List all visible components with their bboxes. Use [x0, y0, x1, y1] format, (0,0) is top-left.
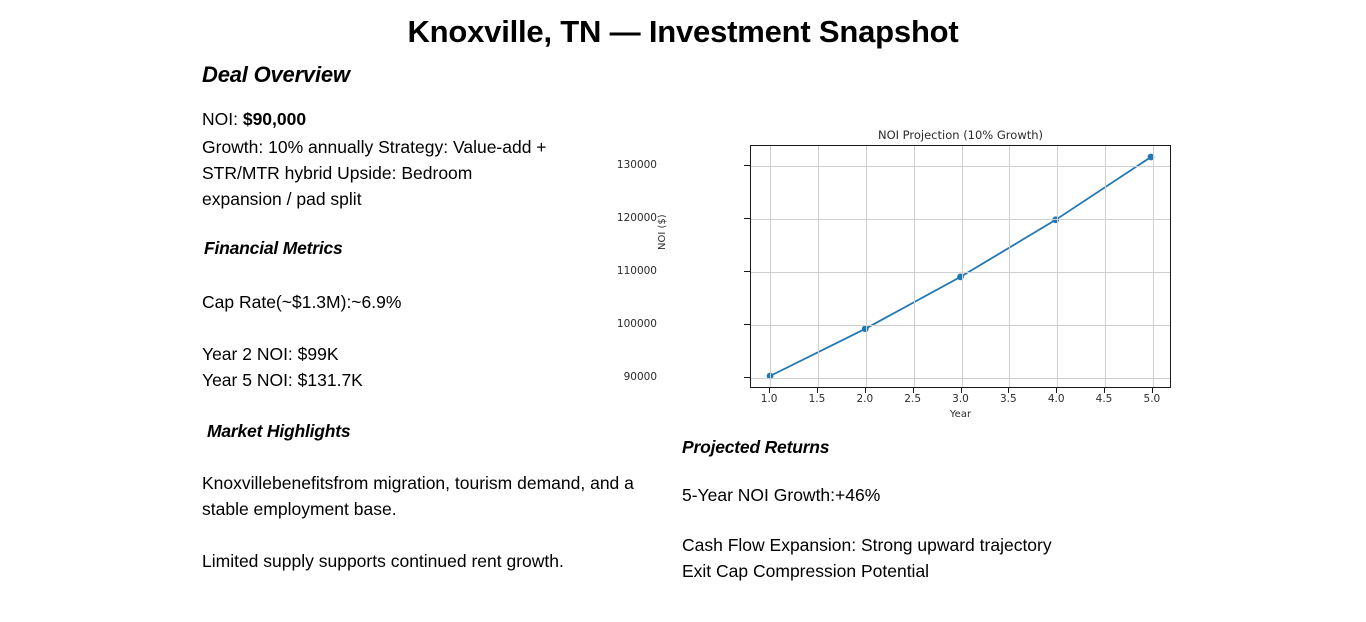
chart-title: NOI Projection (10% Growth) — [750, 128, 1171, 142]
chart-y-tick-label: 110000 — [617, 265, 657, 277]
chart-gridline-vertical — [962, 146, 963, 387]
deal-overview-heading: Deal Overview — [202, 62, 672, 88]
year2-noi-line: Year 2 NOI: $99K — [202, 341, 672, 367]
chart-x-tick-label: 4.5 — [1096, 393, 1113, 405]
chart-gridline-vertical — [1153, 146, 1154, 387]
exit-cap-compression-line: Exit Cap Compression Potential — [682, 558, 1202, 584]
chart-y-tick-mark — [744, 165, 750, 166]
chart-gridline-vertical — [1057, 146, 1058, 387]
chart-gridline-vertical — [770, 146, 771, 387]
chart-gridline-vertical — [818, 146, 819, 387]
chart-gridline-vertical — [914, 146, 915, 387]
chart-gridline-vertical — [866, 146, 867, 387]
year5-noi-line: Year 5 NOI: $131.7K — [202, 367, 672, 393]
chart-x-tick-label: 1.5 — [809, 393, 826, 405]
chart-x-tick-label: 2.0 — [856, 393, 873, 405]
chart-plot-area — [750, 145, 1171, 388]
chart-data-point — [957, 274, 964, 281]
chart-gridline-horizontal — [751, 325, 1170, 326]
chart-gridline-horizontal — [751, 219, 1170, 220]
chart-y-tick-mark — [744, 218, 750, 219]
right-content-column: Projected Returns 5-Year NOI Growth:+46%… — [682, 437, 1202, 584]
chart-gridline-vertical — [1105, 146, 1106, 387]
chart-x-axis-label: Year — [750, 409, 1171, 420]
chart-x-tick-label: 5.0 — [1144, 393, 1161, 405]
left-content-column: Deal Overview NOI: $90,000 Growth: 10% a… — [202, 62, 672, 574]
chart-y-tick-label: 130000 — [617, 159, 657, 171]
chart-x-tick-label: 4.0 — [1048, 393, 1065, 405]
chart-x-tick-label: 1.0 — [761, 393, 778, 405]
market-highlights-heading: Market Highlights — [207, 421, 672, 442]
page-title: Knoxville, TN — Investment Snapshot — [0, 14, 1366, 50]
chart-y-tick-mark — [744, 271, 750, 272]
five-year-noi-growth-line: 5-Year NOI Growth:+46% — [682, 482, 1202, 508]
chart-gridline-vertical — [1009, 146, 1010, 387]
projected-returns-heading: Projected Returns — [682, 437, 1202, 458]
chart-y-tick-label: 100000 — [617, 318, 657, 330]
chart-gridline-horizontal — [751, 378, 1170, 379]
chart-y-tick-label: 90000 — [624, 371, 657, 383]
cap-rate-line: Cap Rate(~$1.3M):~6.9% — [202, 289, 672, 315]
cash-flow-expansion-line: Cash Flow Expansion: Strong upward traje… — [682, 532, 1202, 558]
market-highlight-line-1: Knoxvillebenefitsfrom migration, tourism… — [202, 470, 652, 522]
chart-x-tick-label: 3.5 — [1000, 393, 1017, 405]
chart-series-svg — [751, 146, 1170, 387]
financial-metrics-heading: Financial Metrics — [204, 238, 672, 259]
chart-gridline-horizontal — [751, 166, 1170, 167]
deal-noi-value: $90,000 — [243, 109, 306, 129]
chart-y-axis-label: NOI ($) — [657, 214, 668, 250]
chart-x-tick-label: 3.0 — [952, 393, 969, 405]
chart-series-line — [770, 157, 1151, 376]
noi-projection-chart: NOI Projection (10% Growth) NOI ($) Year… — [660, 122, 1184, 418]
chart-y-tick-mark — [744, 377, 750, 378]
deal-noi-label: NOI: — [202, 109, 243, 129]
chart-y-tick-mark — [744, 324, 750, 325]
market-highlight-line-2: Limited supply supports continued rent g… — [202, 548, 672, 574]
chart-y-tick-label: 120000 — [617, 212, 657, 224]
deal-strategy-detail: Growth: 10% annually Strategy: Value-add… — [202, 134, 552, 212]
chart-gridline-horizontal — [751, 272, 1170, 273]
chart-x-tick-label: 2.5 — [904, 393, 921, 405]
deal-noi-line: NOI: $90,000 — [202, 106, 672, 132]
